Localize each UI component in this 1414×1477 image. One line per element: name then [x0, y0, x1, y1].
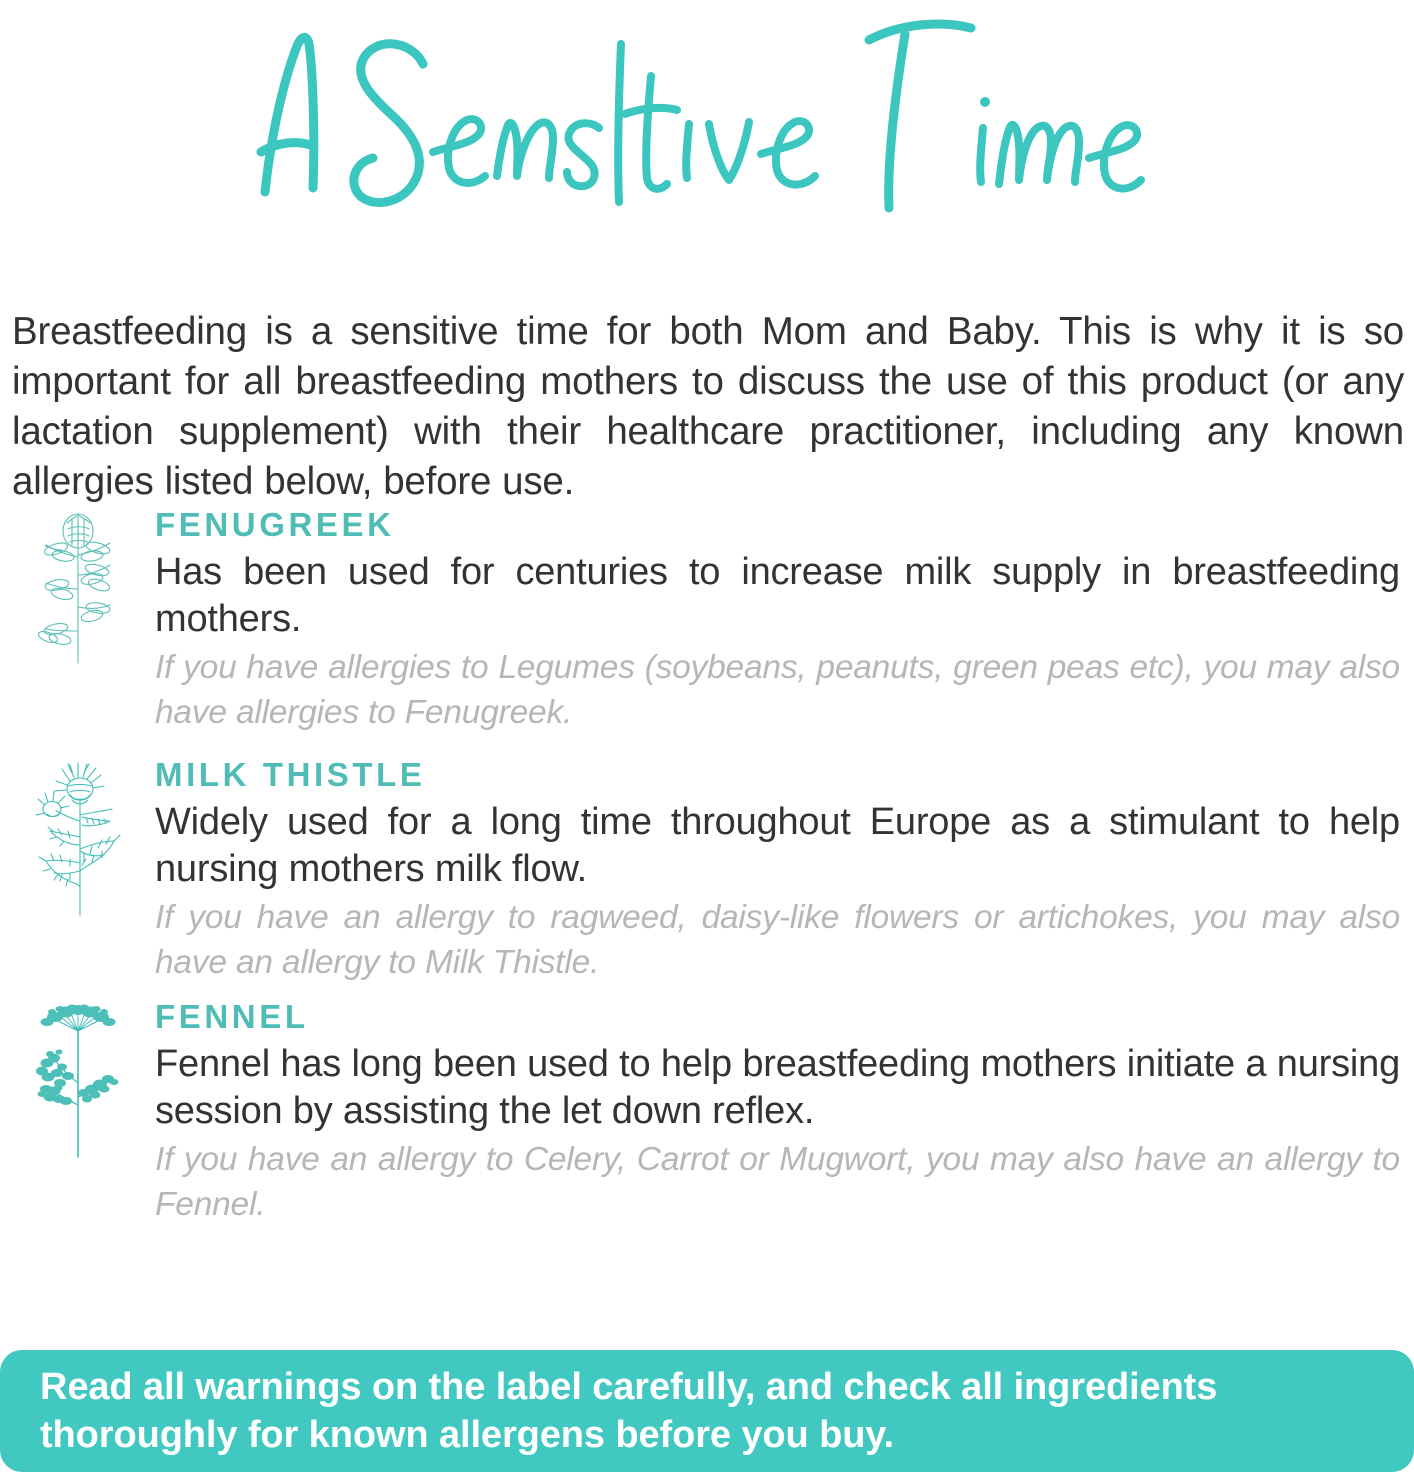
fennel-text-block: FENNEL Fennel has long been used to help…: [155, 997, 1414, 1227]
fennel-plant-icon: [26, 1001, 130, 1161]
herb-heading-fenugreek: FENUGREEK: [155, 505, 1400, 545]
milk-thistle-text-block: MILK THISTLE Widely used for a long time…: [155, 755, 1414, 985]
infographic-page: Breastfeeding is a sensitive time for bo…: [0, 0, 1414, 1477]
herb-section-fenugreek: FENUGREEK Has been used for centuries to…: [0, 505, 1414, 735]
herb-allergy-note-fennel: If you have an allergy to Celery, Carrot…: [155, 1137, 1400, 1227]
herb-sections-list: FENUGREEK Has been used for centuries to…: [0, 505, 1414, 1227]
herb-description-fennel: Fennel has long been used to help breast…: [155, 1041, 1400, 1135]
warning-banner: Read all warnings on the label carefully…: [0, 1350, 1414, 1472]
fenugreek-text-block: FENUGREEK Has been used for centuries to…: [155, 505, 1414, 735]
herb-heading-milk-thistle: MILK THISTLE: [155, 755, 1400, 795]
herb-allergy-note-milk-thistle: If you have an allergy to ragweed, daisy…: [155, 895, 1400, 985]
fenugreek-icon-container: [0, 505, 155, 669]
page-title: [0, 6, 1414, 256]
herb-allergy-note-fenugreek: If you have allergies to Legumes (soybea…: [155, 645, 1400, 735]
herb-description-milk-thistle: Widely used for a long time throughout E…: [155, 799, 1400, 893]
milk-thistle-icon-container: [0, 755, 155, 919]
warning-banner-text: Read all warnings on the label carefully…: [0, 1363, 1414, 1459]
herb-section-milk-thistle: MILK THISTLE Widely used for a long time…: [0, 755, 1414, 985]
fennel-icon-container: [0, 997, 155, 1161]
milk-thistle-plant-icon: [26, 759, 130, 919]
herb-heading-fennel: FENNEL: [155, 997, 1400, 1037]
title-script-lettering: [227, 16, 1187, 246]
fenugreek-plant-icon: [26, 509, 130, 669]
herb-section-fennel: FENNEL Fennel has long been used to help…: [0, 997, 1414, 1227]
herb-description-fenugreek: Has been used for centuries to increase …: [155, 549, 1400, 643]
intro-paragraph: Breastfeeding is a sensitive time for bo…: [12, 307, 1404, 507]
